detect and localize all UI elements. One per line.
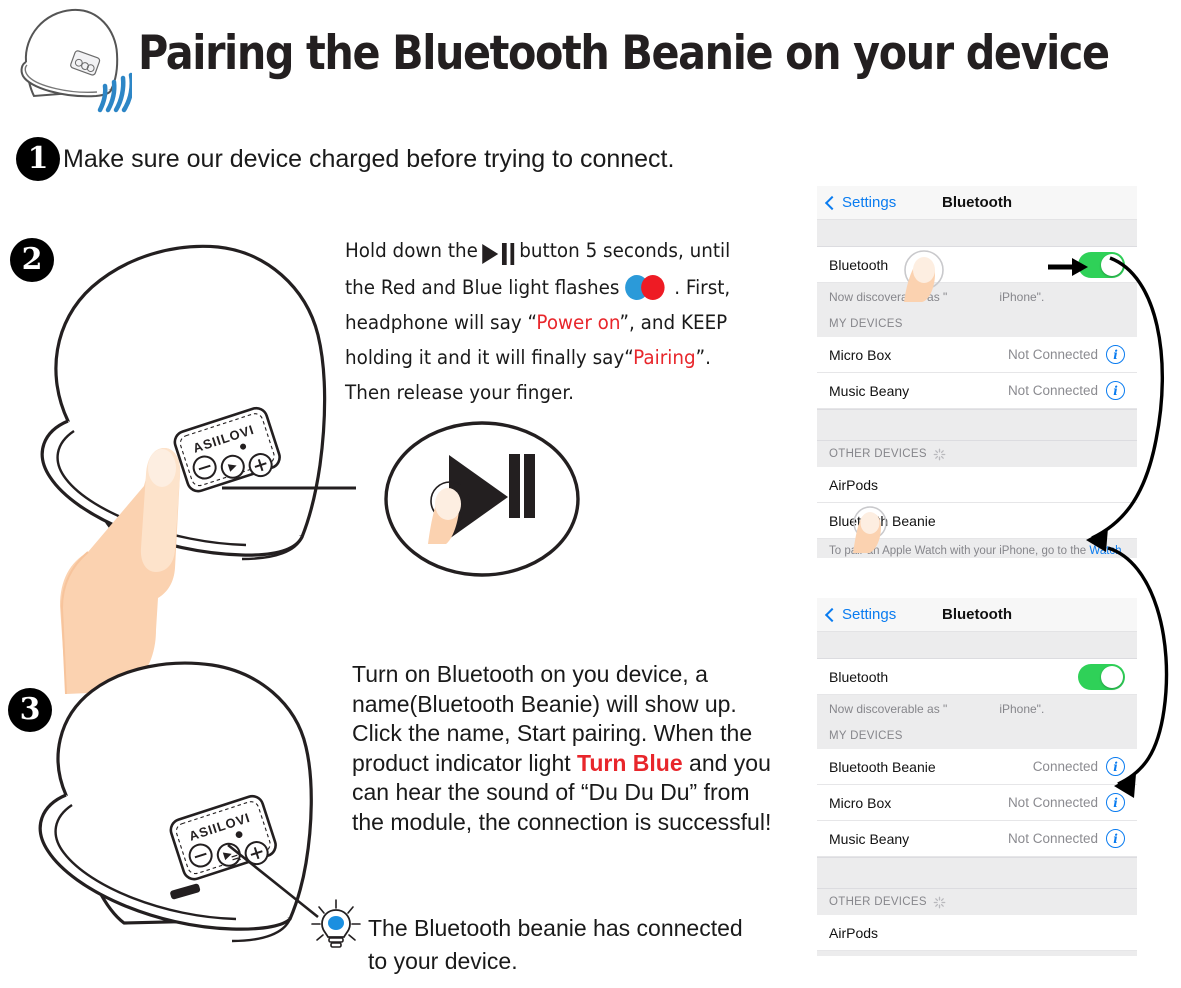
- device-state: Not Connected: [1008, 347, 1098, 362]
- device-name: Micro Box: [829, 795, 1008, 811]
- info-icon[interactable]: i: [1106, 345, 1125, 364]
- my-devices-header: MY DEVICES: [817, 311, 1137, 337]
- other-device-row-airpods[interactable]: AirPods: [817, 915, 1137, 951]
- my-devices-header: MY DEVICES: [817, 723, 1137, 749]
- device-row-micro-box[interactable]: Micro Box Not Connected i: [817, 337, 1137, 373]
- bluetooth-toggle-row[interactable]: Bluetooth: [817, 659, 1137, 695]
- device-row-bluetooth-beanie[interactable]: Bluetooth Beanie Connected i: [817, 749, 1137, 785]
- light-bulb-blue-icon: [308, 898, 364, 954]
- red-blue-flash-icon: [625, 275, 674, 299]
- discoverable-device: iPhone".: [999, 290, 1044, 304]
- other-devices-header: OTHER DEVICES: [817, 441, 1137, 467]
- section-spacer: [817, 632, 1137, 659]
- info-icon[interactable]: i: [1106, 757, 1125, 776]
- device-row-music-beany[interactable]: Music Beany Not Connected i: [817, 373, 1137, 409]
- step-2-text: Hold down thebutton 5 seconds, until the…: [345, 233, 740, 410]
- watch-app-footer: To pair an Apple Watch with your iPhone,…: [817, 951, 1137, 956]
- nav-bar: Settings Bluetooth: [817, 186, 1137, 220]
- back-label: Settings: [842, 606, 896, 623]
- discoverable-device: iPhone".: [999, 702, 1044, 716]
- discoverable-prefix: Now discoverable as ": [829, 702, 947, 716]
- instruction-sheet: Pairing the Bluetooth Beanie on your dev…: [0, 0, 1181, 988]
- loading-spinner-icon: [933, 448, 946, 461]
- power-on-label: Power on: [536, 311, 619, 334]
- device-name: Micro Box: [829, 347, 1008, 363]
- bluetooth-settings-panel-after: Settings Bluetooth Bluetooth Now discove…: [817, 598, 1137, 956]
- bulb-note-text: The Bluetooth beanie has connected to yo…: [368, 912, 768, 978]
- nav-bar: Settings Bluetooth: [817, 598, 1137, 632]
- info-icon[interactable]: i: [1106, 793, 1125, 812]
- bluetooth-toggle-row[interactable]: Bluetooth: [817, 247, 1137, 283]
- play-pause-magnified-callout: [378, 418, 586, 580]
- device-state: Not Connected: [1008, 795, 1098, 810]
- device-row-music-beany[interactable]: Music Beany Not Connected i: [817, 821, 1137, 857]
- other-devices-label: OTHER DEVICES: [829, 896, 927, 908]
- bluetooth-label: Bluetooth: [829, 257, 1078, 273]
- chevron-left-icon: [825, 607, 839, 621]
- device-state: Not Connected: [1008, 831, 1098, 846]
- watch-app-footer: To pair an Apple Watch with your iPhone,…: [817, 539, 1137, 558]
- back-to-settings-button[interactable]: Settings: [827, 194, 896, 211]
- info-icon[interactable]: i: [1106, 381, 1125, 400]
- beanie-bluetooth-signal-logo: [14, 6, 132, 114]
- other-devices-label: OTHER DEVICES: [829, 448, 927, 460]
- device-name: Bluetooth Beanie: [829, 759, 1033, 775]
- step-1-text: Make sure our device charged before tryi…: [63, 140, 703, 179]
- discoverable-text: Now discoverable as " iPhone".: [817, 695, 1137, 723]
- device-name: Music Beany: [829, 383, 1008, 399]
- bluetooth-label: Bluetooth: [829, 669, 1078, 685]
- play-pause-icon: [483, 235, 515, 270]
- discoverable-text: Now discoverable as " iPhone".: [817, 283, 1137, 311]
- device-name: Music Beany: [829, 831, 1008, 847]
- device-state: Connected: [1033, 759, 1098, 774]
- other-devices-header: OTHER DEVICES: [817, 889, 1137, 915]
- bluetooth-toggle[interactable]: [1078, 664, 1125, 690]
- device-state: Not Connected: [1008, 383, 1098, 398]
- device-name: AirPods: [829, 925, 1125, 941]
- other-device-row-bluetooth-beanie[interactable]: Bluetooth Beanie: [817, 503, 1137, 539]
- discoverable-prefix: Now discoverable as ": [829, 290, 947, 304]
- device-name: AirPods: [829, 477, 1125, 493]
- info-icon[interactable]: i: [1106, 829, 1125, 848]
- pairing-label: Pairing: [633, 346, 695, 369]
- loading-spinner-icon: [933, 896, 946, 909]
- page-title: Pairing the Bluetooth Beanie on your dev…: [138, 26, 1109, 81]
- back-to-settings-button[interactable]: Settings: [827, 606, 896, 623]
- footer-tail: .: [848, 557, 851, 558]
- footer-text: To pair an Apple Watch with your iPhone,…: [829, 545, 1089, 557]
- section-gap: [817, 409, 1137, 441]
- other-device-row-airpods[interactable]: AirPods: [817, 467, 1137, 503]
- chevron-left-icon: [825, 195, 839, 209]
- step2-part1: Hold down the: [345, 239, 478, 262]
- bluetooth-settings-panel-before: Settings Bluetooth Bluetooth Now discove…: [817, 186, 1137, 558]
- header: Pairing the Bluetooth Beanie on your dev…: [0, 0, 1181, 120]
- toggle-direction-arrow: [1048, 256, 1088, 278]
- section-gap: [817, 857, 1137, 889]
- section-spacer: [817, 220, 1137, 247]
- step-badge-1: 1: [16, 137, 60, 181]
- device-name: Bluetooth Beanie: [829, 513, 1125, 529]
- step-3-text: Turn on Bluetooth on you device, a name(…: [352, 660, 772, 837]
- turn-blue-label: Turn Blue: [577, 750, 683, 776]
- beanie-illustration-step3: ASIILOVI: [0, 655, 350, 985]
- device-row-micro-box[interactable]: Micro Box Not Connected i: [817, 785, 1137, 821]
- back-label: Settings: [842, 194, 896, 211]
